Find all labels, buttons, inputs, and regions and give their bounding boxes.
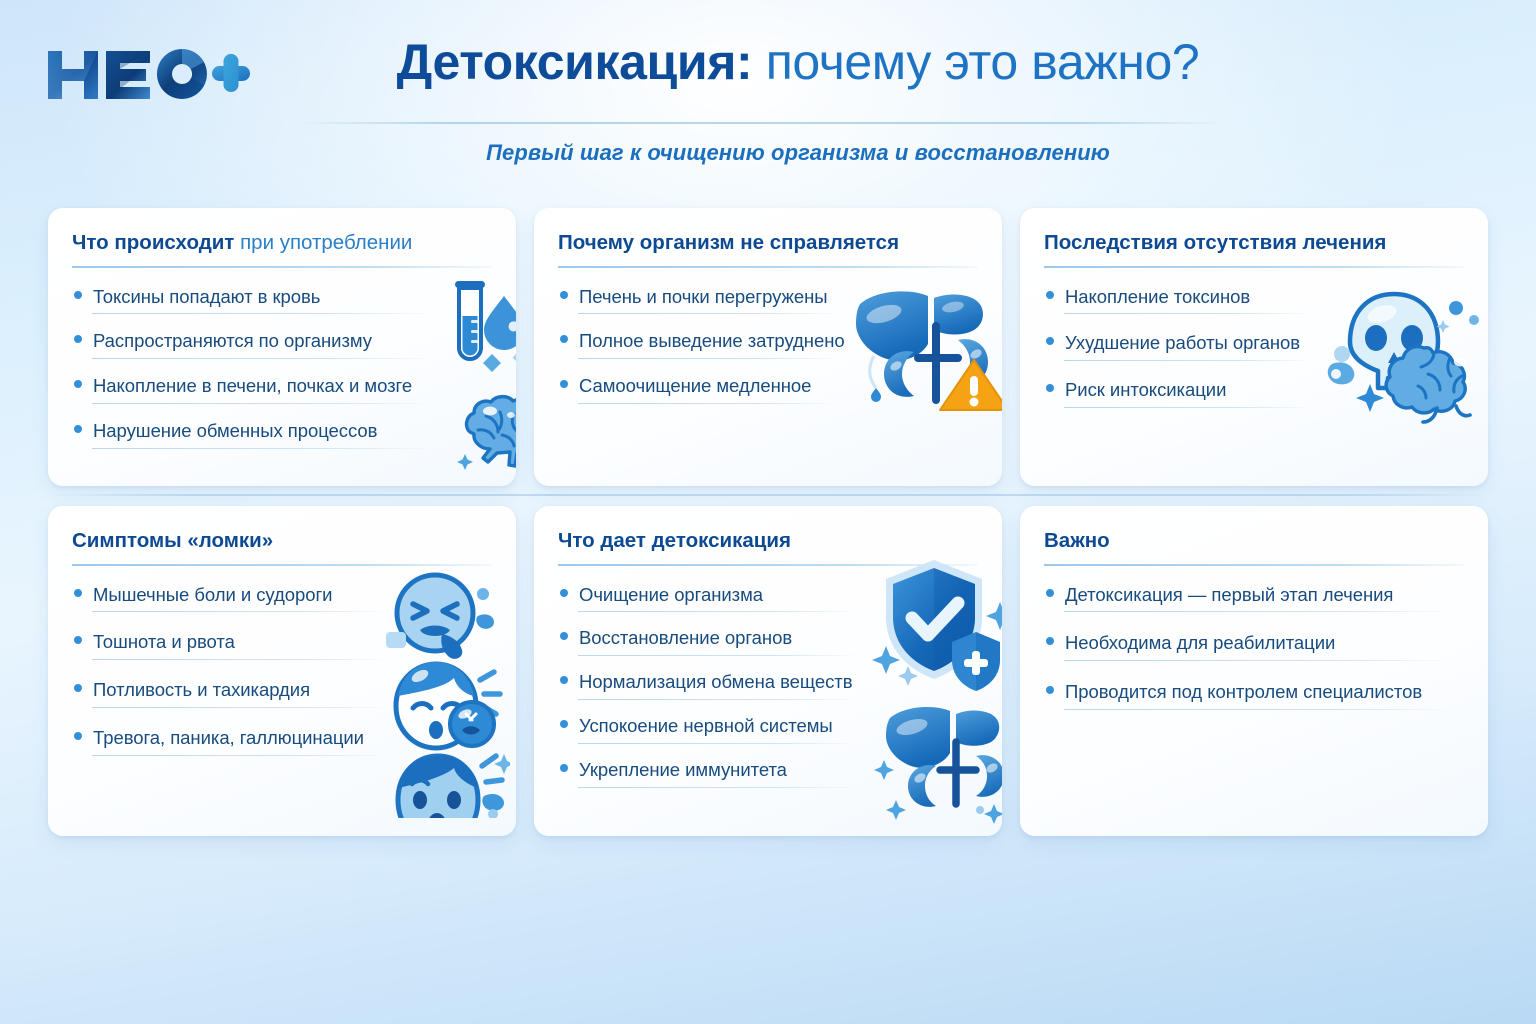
list-item: Потливость и тахикардия [70,673,494,708]
bullet-underline [1064,660,1444,661]
bullet-text: Нарушение обменных процессов [93,414,377,449]
card-title: Что происходит при употреблении [72,232,494,255]
card-title-divider [558,564,978,566]
list-item: Восстановление органов [556,621,980,656]
card-title-divider [558,266,978,268]
bullet-text: Полное выведение затруднено [579,324,845,359]
page-title: Детоксикация: почему это важно? [0,36,1536,89]
bullet-dot [560,676,568,684]
bullet-text: Тошнота и рвота [93,625,235,660]
card-detox-benefits: Что дает детоксикация [534,506,1002,836]
bullet-underline [92,611,382,612]
bullet-dot [560,720,568,728]
bullet-underline [92,358,424,359]
bullet-dot [1046,637,1054,645]
bullet-text: Тревога, паника, галлюцинации [93,721,364,756]
bullet-text: Мышечные боли и судороги [93,578,332,613]
bullet-underline [578,403,832,404]
bullet-dot [560,291,568,299]
bullet-dot [74,684,82,692]
card-withdrawal-symptoms: Симптомы «ломки» [48,506,516,836]
cards-row-bottom: Симптомы «ломки» [48,506,1488,836]
card-bullet-list: Детоксикация — первый этап лечения Необх… [1042,578,1466,710]
list-item: Детоксикация — первый этап лечения [1042,578,1466,613]
bullet-dot [74,335,82,343]
card-title-divider [72,266,492,268]
list-item: Нарушение обменных процессов [70,414,494,449]
list-item: Накопление в печени, почках и мозге [70,369,494,404]
bullet-text: Токсины попадают в кровь [93,280,320,315]
bullet-text: Накопление токсинов [1065,280,1250,315]
bullet-underline [578,611,852,612]
bullet-underline [578,699,852,700]
bullet-underline [92,659,382,660]
card-important: Важно Детоксикация — первый этап лечения… [1020,506,1488,836]
list-item: Риск интоксикации [1042,373,1466,408]
bullet-dot [74,732,82,740]
card-bullet-list: Мышечные боли и судороги Тошнота и рвота… [70,578,494,756]
bullet-text: Очищение организма [579,578,763,613]
bullet-dot [74,636,82,644]
bullet-text: Самоочищение медленное [579,369,811,404]
bullet-dot [74,589,82,597]
bullet-underline [1064,611,1444,612]
card-title: Важно [1044,530,1466,553]
bullet-underline [92,755,382,756]
list-item: Ухудшение работы органов [1042,326,1466,361]
title-divider [296,122,1226,124]
list-item: Самоочищение медленное [556,369,980,404]
list-item: Успокоение нервной системы [556,709,980,744]
bullet-text: Восстановление органов [579,621,792,656]
bullet-dot [1046,686,1054,694]
bullet-dot [1046,291,1054,299]
cards-grid: Что происходит при употреблении [48,208,1488,836]
card-title: Симптомы «ломки» [72,530,494,553]
bullet-text: Потливость и тахикардия [93,673,310,708]
list-item: Печень и почки перегружены [556,280,980,315]
page-title-primary: Детоксикация: [397,34,753,90]
card-title: Что дает детоксикация [558,530,980,553]
card-title-light: при употреблении [240,231,412,254]
bullet-text: Ухудшение работы органов [1065,326,1300,361]
card-title-bold: Последствия отсутствия лечения [1044,231,1386,254]
card-title-divider [1044,266,1464,268]
bullet-underline [92,707,382,708]
card-title-bold: Почему организм не справляется [558,231,899,254]
bullet-text: Риск интоксикации [1065,373,1226,408]
bullet-text: Нормализация обмена веществ [579,665,852,700]
bullet-underline [92,313,424,314]
bullet-underline [92,403,424,404]
list-item: Мышечные боли и судороги [70,578,494,613]
bullet-text: Накопление в печени, почках и мозге [93,369,412,404]
bullet-text: Детоксикация — первый этап лечения [1065,578,1393,613]
card-bullet-list: Токсины попадают в кровь Распространяютс… [70,280,494,449]
bullet-underline [578,313,832,314]
list-item: Накопление токсинов [1042,280,1466,315]
list-item: Нормализация обмена веществ [556,665,980,700]
card-title-bold: Что происходит [72,231,234,254]
list-item: Тошнота и рвота [70,625,494,660]
card-why-body-fails: Почему организм не справляется [534,208,1002,486]
card-bullet-list: Очищение организма Восстановление органо… [556,578,980,788]
list-item: Полное выведение затруднено [556,324,980,359]
bullet-dot [74,425,82,433]
card-bullet-list: Печень и почки перегружены Полное выведе… [556,280,980,404]
bullet-underline [1064,709,1444,710]
page-title-secondary: почему это важно? [766,34,1200,90]
card-title-bold: Что дает детоксикация [558,529,791,552]
bullet-dot [1046,337,1054,345]
card-bullet-list: Накопление токсинов Ухудшение работы орг… [1042,280,1466,408]
bullet-underline [578,358,832,359]
list-item: Очищение организма [556,578,980,613]
card-title-bold: Важно [1044,529,1110,552]
bullet-underline [1064,360,1306,361]
bullet-underline [578,787,852,788]
list-item: Укрепление иммунитета [556,753,980,788]
bullet-underline [578,743,852,744]
bullet-dot [74,291,82,299]
bullet-dot [560,632,568,640]
bullet-text: Укрепление иммунитета [579,753,787,788]
list-item: Необходима для реабилитации [1042,626,1466,661]
bullet-dot [1046,384,1054,392]
bullet-dot [560,764,568,772]
bullet-dot [74,380,82,388]
list-item: Распространяются по организму [70,324,494,359]
bullet-dot [560,589,568,597]
page-header: Детоксикация: почему это важно? Первый ш… [0,0,1536,190]
bullet-text: Проводится под контролем специалистов [1065,675,1422,710]
bullet-underline [578,655,852,656]
list-item: Тревога, паника, галлюцинации [70,721,494,756]
bullet-underline [92,448,424,449]
bullet-underline [1064,313,1306,314]
list-item: Токсины попадают в кровь [70,280,494,315]
bullet-text: Печень и почки перегружены [579,280,828,315]
bullet-dot [560,380,568,388]
card-title-divider [1044,564,1464,566]
bullet-underline [1064,407,1306,408]
card-consequences: Последствия отсутствия лечения [1020,208,1488,486]
card-title-divider [72,564,492,566]
bullet-text: Распространяются по организму [93,324,372,359]
page-subtitle: Первый шаг к очищению организма и восста… [0,140,1536,166]
bullet-text: Необходима для реабилитации [1065,626,1335,661]
bullet-dot [560,335,568,343]
card-what-happens: Что происходит при употреблении [48,208,516,486]
bullet-text: Успокоение нервной системы [579,709,833,744]
card-title: Почему организм не справляется [558,232,980,255]
card-title-bold: Симптомы «ломки» [72,529,273,552]
card-title: Последствия отсутствия лечения [1044,232,1466,255]
cards-row-top: Что происходит при употреблении [48,208,1488,486]
bullet-dot [1046,589,1054,597]
list-item: Проводится под контролем специалистов [1042,675,1466,710]
